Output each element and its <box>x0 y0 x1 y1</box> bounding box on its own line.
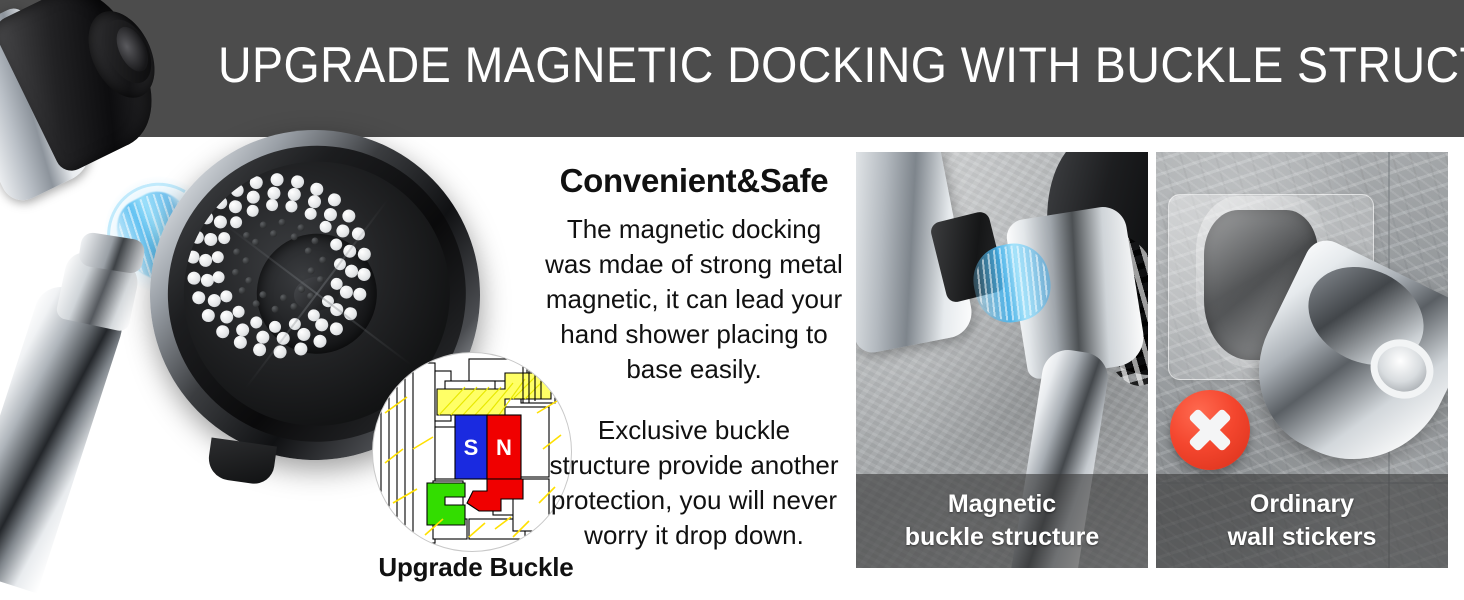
shower-nozzle <box>270 172 285 187</box>
shower-nozzle <box>327 193 342 208</box>
shower-nozzle <box>249 175 264 190</box>
shower-micro-hole <box>297 224 305 232</box>
pole-label-s: S <box>464 435 479 460</box>
caption-line-2: buckle structure <box>905 521 1100 554</box>
shower-nozzle <box>215 324 230 339</box>
shower-nozzle <box>201 309 216 324</box>
shower-nozzle <box>191 290 206 305</box>
shower-micro-hole <box>290 232 298 240</box>
shower-nozzle <box>265 198 279 212</box>
shower-nozzle <box>228 200 243 215</box>
shower-nozzle <box>267 186 282 201</box>
shower-nozzle <box>230 183 245 198</box>
shower-micro-hole <box>238 286 246 294</box>
shower-nozzle <box>203 232 218 247</box>
caption-line-1: Ordinary <box>1250 488 1354 521</box>
shower-nozzle <box>246 204 260 218</box>
comparison-panel-magnetic: Magnetic buckle structure <box>856 152 1148 568</box>
shower-nozzle <box>236 322 251 337</box>
caption-line-2: wall stickers <box>1228 521 1377 554</box>
shower-nozzle <box>293 342 308 357</box>
shower-nozzle <box>219 290 233 304</box>
pole-label-n: N <box>496 435 512 460</box>
shower-nozzle <box>310 182 325 197</box>
shower-nozzle <box>190 229 205 244</box>
infographic-canvas: UPGRADE MAGNETIC DOCKING WITH BUCKLE STR… <box>0 0 1464 600</box>
shower-nozzle <box>217 232 231 246</box>
shower-micro-hole <box>278 218 286 226</box>
section-heading: Convenient&Safe <box>544 160 844 202</box>
shower-nozzle <box>252 342 267 357</box>
buckle-schematic-svg: S N <box>373 353 572 552</box>
buckle-diagram-circle: S N <box>372 352 572 552</box>
shower-nozzle <box>304 207 318 221</box>
shower-head-latch <box>206 437 277 486</box>
shower-nozzle <box>285 199 299 213</box>
cross-badge-icon <box>1170 390 1250 470</box>
shower-nozzle <box>229 215 243 229</box>
shower-nozzle <box>249 316 263 330</box>
feature-text-column: Convenient&Safe The magnetic docking was… <box>544 160 844 553</box>
shower-nozzle <box>232 305 246 319</box>
feature-paragraph-2: Exclusive buckle structure provide anoth… <box>544 413 844 553</box>
shower-micro-hole <box>233 248 241 256</box>
shower-micro-hole <box>270 229 278 237</box>
shower-nozzle <box>233 335 248 350</box>
shower-micro-hole <box>318 256 326 264</box>
shower-nozzle <box>341 208 356 223</box>
caption-bar-ordinary: Ordinary wall stickers <box>1156 474 1448 568</box>
shower-micro-hole <box>231 268 239 276</box>
comparison-panel-ordinary: Ordinary wall stickers <box>1156 152 1448 568</box>
caption-bar-magnetic: Magnetic buckle structure <box>856 474 1148 568</box>
shower-nozzle <box>255 330 270 345</box>
shower-micro-hole <box>245 277 253 285</box>
shower-nozzle <box>186 250 201 265</box>
buckle-diagram-label: Upgrade Buckle <box>370 552 582 583</box>
caption-line-1: Magnetic <box>948 488 1056 521</box>
shower-nozzle <box>290 175 305 190</box>
shower-nozzle <box>186 270 201 285</box>
shower-nozzle <box>319 220 333 234</box>
shower-micro-hole <box>259 221 267 229</box>
shower-micro-hole <box>242 257 250 265</box>
shower-nozzle <box>212 271 226 285</box>
shower-nozzle <box>211 251 225 265</box>
feature-paragraph-1: The magnetic docking was mdae of strong … <box>544 212 844 387</box>
shower-handle <box>0 272 160 600</box>
shower-nozzle <box>213 195 228 210</box>
shower-nozzle <box>246 190 261 205</box>
